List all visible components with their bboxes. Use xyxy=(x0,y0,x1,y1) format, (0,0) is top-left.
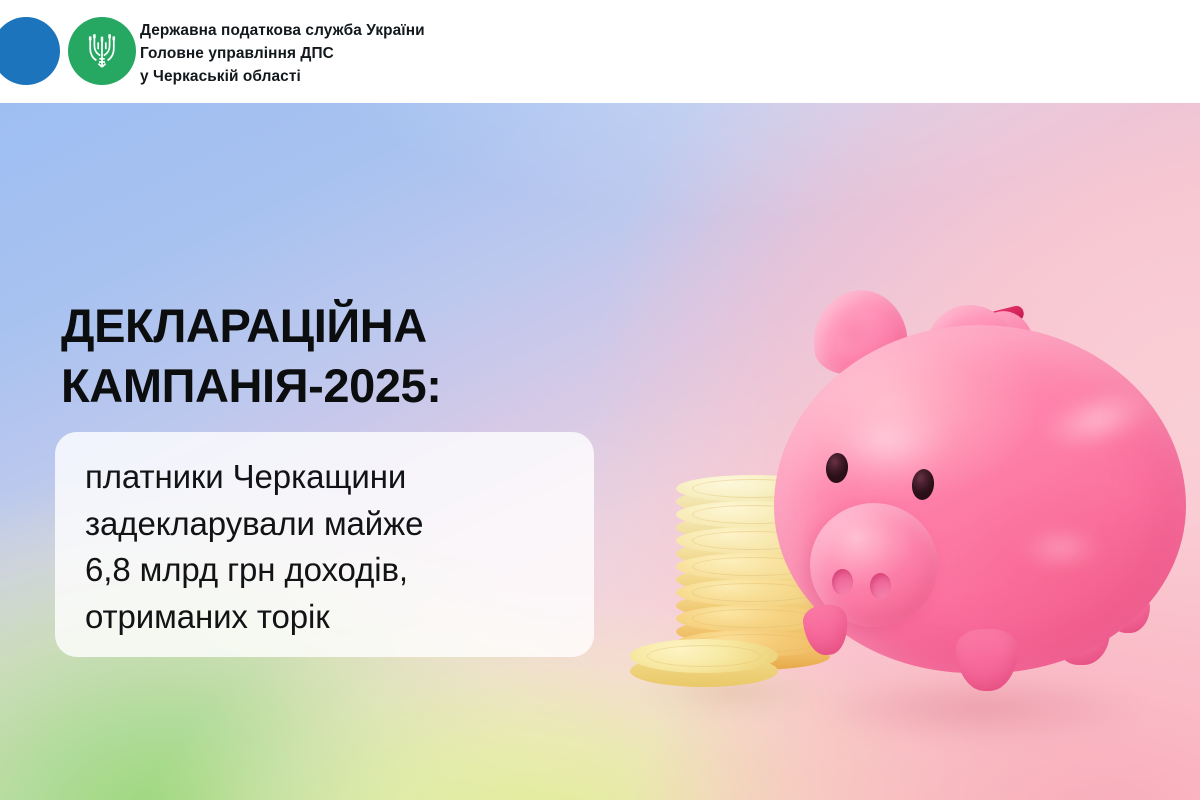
info-card: платники Черкащини задекларували майже 6… xyxy=(55,432,594,657)
organization-name: Державна податкова служба України Головн… xyxy=(140,19,425,88)
piggy-leg-front-left xyxy=(802,603,851,657)
piggy-bank-icon xyxy=(760,283,1200,703)
organization-logo xyxy=(0,17,132,87)
logo-blue-circle-icon xyxy=(0,17,60,85)
org-line-1: Державна податкова служба України xyxy=(140,19,425,42)
page-title: ДЕКЛАРАЦІЙНА КАМПАНІЯ-2025: xyxy=(61,296,442,416)
card-line-3: 6,8 млрд грн доходів, xyxy=(85,547,564,594)
title-line-1: ДЕКЛАРАЦІЙНА xyxy=(61,296,442,356)
piggy-nostril-right xyxy=(870,573,891,599)
title-line-2: КАМПАНІЯ-2025: xyxy=(61,356,442,416)
piggy-leg-front-right xyxy=(956,629,1018,691)
org-line-2: Головне управління ДПС xyxy=(140,42,425,65)
header-band: Державна податкова служба України Головн… xyxy=(0,0,1200,103)
ukraine-trident-icon xyxy=(85,30,119,72)
card-line-4: отриманих торік xyxy=(85,594,564,641)
poster-canvas: ДЕКЛАРАЦІЙНА КАМПАНІЯ-2025: платники Чер… xyxy=(0,0,1200,800)
card-line-1: платники Черкащини xyxy=(85,454,564,501)
logo-green-circle-icon xyxy=(68,17,136,85)
card-line-2: задекларували майже xyxy=(85,501,564,548)
org-line-3: у Черкаській області xyxy=(140,65,425,88)
coin-flat-icon xyxy=(630,639,778,691)
piggy-nostril-left xyxy=(832,569,853,595)
